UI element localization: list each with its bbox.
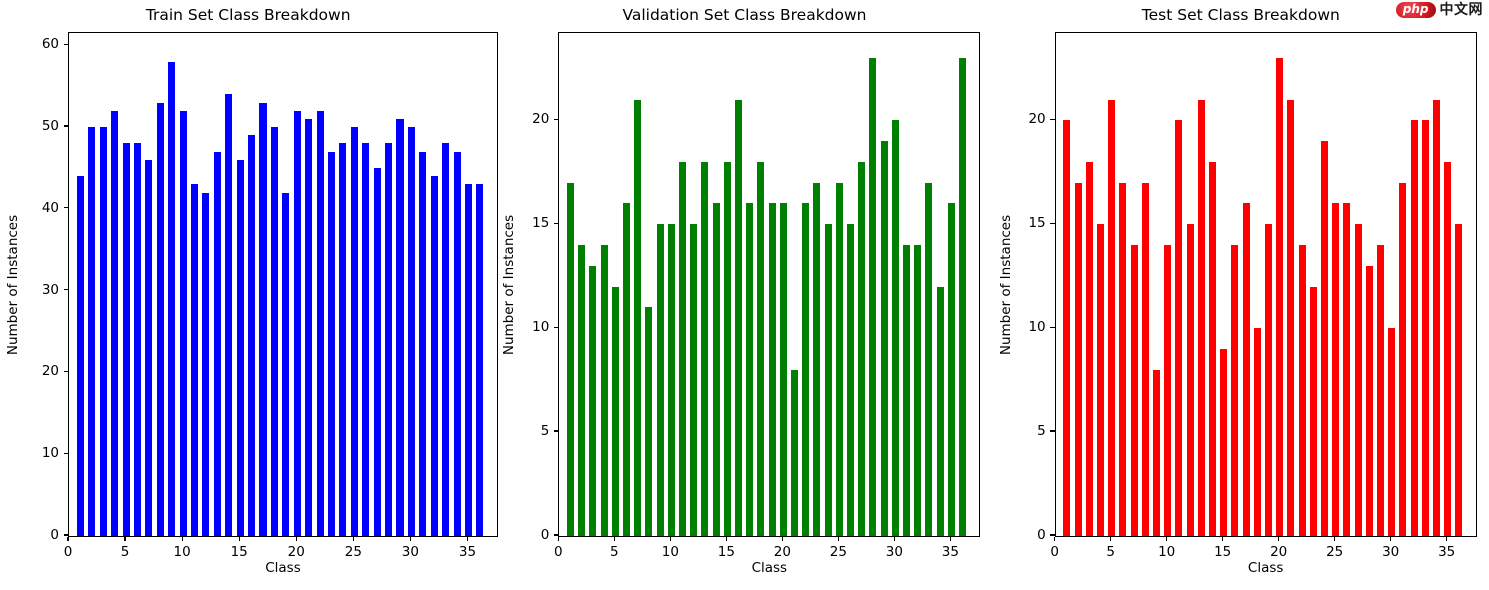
bar xyxy=(111,111,118,536)
bar xyxy=(385,143,392,536)
bar xyxy=(1220,349,1227,536)
bar xyxy=(1444,162,1451,536)
bar xyxy=(317,111,324,536)
bar xyxy=(328,152,335,536)
bar xyxy=(77,176,84,536)
x-axis-label-validation: Class xyxy=(558,560,980,576)
bar xyxy=(746,203,753,536)
bar xyxy=(1332,203,1339,536)
bar xyxy=(959,58,966,536)
bar xyxy=(847,224,854,536)
bar xyxy=(578,245,585,536)
bar xyxy=(1175,120,1182,536)
bar xyxy=(1097,224,1104,536)
bar xyxy=(1231,245,1238,536)
bar-series-train xyxy=(69,33,497,536)
bar xyxy=(836,183,843,536)
bar xyxy=(668,224,675,536)
bar xyxy=(214,152,221,536)
bar xyxy=(271,127,278,536)
bar xyxy=(701,162,708,536)
bar xyxy=(282,193,289,537)
bar xyxy=(780,203,787,536)
bar xyxy=(1377,245,1384,536)
bar xyxy=(1455,224,1462,536)
bar xyxy=(757,162,764,536)
bar xyxy=(1388,328,1395,536)
bar xyxy=(713,203,720,536)
bar xyxy=(1086,162,1093,536)
bar xyxy=(825,224,832,536)
bar xyxy=(589,266,596,536)
bar xyxy=(903,245,910,536)
bar xyxy=(1254,328,1261,536)
bar xyxy=(248,135,255,536)
y-axis-test: 05101520 xyxy=(993,32,1055,537)
bar xyxy=(634,100,641,536)
bar xyxy=(123,143,130,536)
bar xyxy=(892,120,899,536)
bar xyxy=(948,203,955,536)
bar xyxy=(259,103,266,536)
bar xyxy=(1310,287,1317,536)
bar xyxy=(1366,266,1373,536)
bar xyxy=(623,203,630,536)
bar xyxy=(134,143,141,536)
bar xyxy=(645,307,652,536)
chart-title-train: Train Set Class Breakdown xyxy=(0,6,496,24)
bar xyxy=(813,183,820,536)
bar xyxy=(442,143,449,536)
bar xyxy=(1063,120,1070,536)
bar xyxy=(657,224,664,536)
bar xyxy=(100,127,107,536)
bar xyxy=(769,203,776,536)
bar xyxy=(612,287,619,536)
bar xyxy=(802,203,809,536)
bar xyxy=(408,127,415,536)
bar xyxy=(914,245,921,536)
y-axis-validation: 05101520 xyxy=(496,32,558,537)
bar xyxy=(1243,203,1250,536)
bar xyxy=(567,183,574,536)
bar xyxy=(937,287,944,536)
bar xyxy=(145,160,152,536)
bar xyxy=(362,143,369,536)
bar xyxy=(1209,162,1216,536)
x-axis-label-train: Class xyxy=(68,560,498,576)
bar xyxy=(157,103,164,536)
y-axis-train: 0102030405060 xyxy=(0,32,68,537)
plot-area-validation xyxy=(558,32,980,537)
bar xyxy=(869,58,876,536)
bar xyxy=(679,162,686,536)
bar xyxy=(191,184,198,536)
bar xyxy=(1142,183,1149,536)
bar xyxy=(396,119,403,536)
bar xyxy=(1343,203,1350,536)
bar xyxy=(168,62,175,536)
bar xyxy=(294,111,301,536)
chart-title-validation: Validation Set Class Breakdown xyxy=(496,6,992,24)
panel-validation: Validation Set Class Breakdown Number of… xyxy=(496,0,992,590)
bar xyxy=(225,94,232,536)
php-watermark: php 中文网 xyxy=(1396,2,1483,18)
bar xyxy=(1287,100,1294,536)
bar xyxy=(724,162,731,536)
bar xyxy=(1131,245,1138,536)
bar xyxy=(465,184,472,536)
panel-test: Test Set Class Breakdown Number of Insta… xyxy=(993,0,1489,590)
bar xyxy=(1108,100,1115,536)
bar xyxy=(431,176,438,536)
plot-area-test xyxy=(1055,32,1477,537)
bar xyxy=(454,152,461,536)
bar xyxy=(1153,370,1160,536)
bar xyxy=(1433,100,1440,536)
bar xyxy=(339,143,346,536)
bar xyxy=(1355,224,1362,536)
bar xyxy=(1422,120,1429,536)
bar xyxy=(1276,58,1283,536)
bar xyxy=(351,127,358,536)
php-logo-icon: php xyxy=(1396,2,1436,18)
bar xyxy=(1265,224,1272,536)
bar xyxy=(858,162,865,536)
bar xyxy=(1164,245,1171,536)
bar xyxy=(1187,224,1194,536)
bar xyxy=(1411,120,1418,536)
bar xyxy=(419,152,426,536)
bar xyxy=(237,160,244,536)
plot-area-train xyxy=(68,32,498,537)
bar xyxy=(88,127,95,536)
bar xyxy=(881,141,888,536)
bar xyxy=(476,184,483,536)
bar xyxy=(601,245,608,536)
bar xyxy=(1119,183,1126,536)
bar-series-validation xyxy=(559,33,979,536)
figure-class-breakdown: Train Set Class Breakdown Number of Inst… xyxy=(0,0,1489,590)
bar xyxy=(1198,100,1205,536)
bar xyxy=(791,370,798,536)
bar xyxy=(305,119,312,536)
panel-train: Train Set Class Breakdown Number of Inst… xyxy=(0,0,496,590)
bar xyxy=(925,183,932,536)
bar-series-test xyxy=(1056,33,1476,536)
bar xyxy=(202,193,209,537)
bar xyxy=(374,168,381,536)
bar xyxy=(1299,245,1306,536)
bar xyxy=(180,111,187,536)
watermark-text: 中文网 xyxy=(1440,3,1484,17)
bar xyxy=(1321,141,1328,536)
bar xyxy=(1399,183,1406,536)
bar xyxy=(735,100,742,536)
x-axis-label-test: Class xyxy=(1055,560,1477,576)
bar xyxy=(1075,183,1082,536)
bar xyxy=(690,224,697,536)
